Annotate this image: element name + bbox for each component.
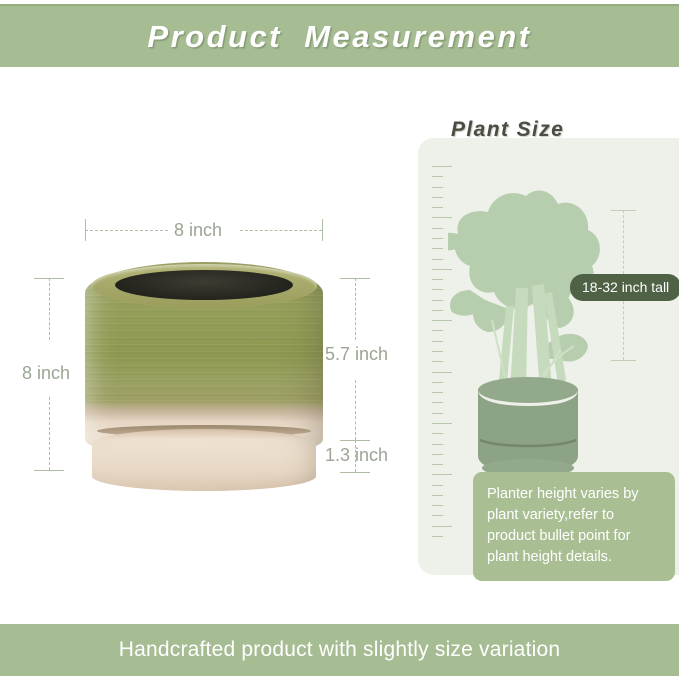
ruler-tick-minor (432, 402, 443, 403)
ruler-tick-minor (432, 341, 443, 342)
ruler-tick-major (432, 526, 452, 527)
ruler-tick-minor (432, 392, 443, 393)
monstera-plant-silhouette (448, 178, 608, 478)
width-dim-cap-right (322, 219, 323, 241)
plant-height-note-box: Planter height varies by plant variety,r… (473, 472, 675, 581)
ruler-tick-minor (432, 485, 443, 486)
planter-interior-opening (115, 270, 293, 300)
ruler-tick-minor (432, 187, 443, 188)
ruler-tick-minor (432, 413, 443, 414)
ruler-tick-minor (432, 259, 443, 260)
saucer-height-dimension-label: 1.3 inch (325, 445, 388, 466)
ruler-tick-minor (432, 505, 443, 506)
height-dim-line-upper (49, 278, 50, 340)
ruler-tick-minor (432, 207, 443, 208)
width-dim-line-right (240, 230, 322, 231)
planter-pot-illustration (478, 377, 578, 477)
plant-height-badge: 18-32 inch tall (570, 274, 679, 301)
ruler-tick-minor (432, 289, 443, 290)
pot-height-dim-line-lower (355, 380, 356, 440)
ruler-tick-minor (432, 351, 443, 352)
product-measurement-figure: 8 inch 8 inch 5.7 inch 1.3 inch (0, 67, 410, 624)
width-dimension-label: 8 inch (174, 220, 222, 241)
height-dim-line-lower (49, 397, 50, 470)
leaf-small-right (543, 334, 588, 362)
ruler-tick-minor (432, 495, 443, 496)
ruler-tick-minor (432, 515, 443, 516)
ruler-tick-minor (432, 310, 443, 311)
ruler-tick-minor (432, 464, 443, 465)
ruler-tick-minor (432, 279, 443, 280)
pot-height-dim-line-upper (355, 278, 356, 340)
ruler-tick-minor (432, 238, 443, 239)
page-title: Product Measurement (147, 19, 531, 55)
pot-rim-illustration (478, 377, 578, 403)
saucer-height-dim-cap-bottom (340, 472, 370, 473)
ruler-tick-minor (432, 228, 443, 229)
pot-height-dimension-label: 5.7 inch (325, 344, 388, 365)
ruler-tick-minor (432, 536, 443, 537)
header-banner: Product Measurement (0, 4, 679, 67)
ruler-tick-minor (432, 361, 443, 362)
planter-saucer (92, 429, 316, 491)
ruler-tick-minor (432, 382, 443, 383)
plant-height-note-text: Planter height varies by plant variety,r… (487, 484, 661, 568)
footer-note: Handcrafted product with slightly size v… (119, 638, 560, 662)
ruler-tick-minor (432, 248, 443, 249)
ceramic-planter-photo (85, 262, 323, 492)
ruler-tick-minor (432, 197, 443, 198)
ruler-tick-minor (432, 433, 443, 434)
ruler-tick-minor (432, 330, 443, 331)
height-dim-cap-bottom (34, 470, 64, 471)
ruler-tick-minor (432, 454, 443, 455)
plant-height-cap-bottom (611, 360, 636, 361)
ruler-tick-minor (432, 444, 443, 445)
ruler-tick-minor (432, 300, 443, 301)
plant-size-title: Plant Size (451, 118, 564, 142)
ruler-tick-major (432, 166, 452, 167)
plant-svg (448, 178, 608, 478)
ruler-tick-minor (432, 176, 443, 177)
plant-size-panel: 18-32 inch tall Planter height varies by… (418, 138, 679, 575)
height-dimension-label: 8 inch (22, 363, 70, 384)
width-dim-line-left (85, 230, 168, 231)
leaf-lower-left2 (473, 298, 507, 332)
footer-banner: Handcrafted product with slightly size v… (0, 624, 679, 676)
